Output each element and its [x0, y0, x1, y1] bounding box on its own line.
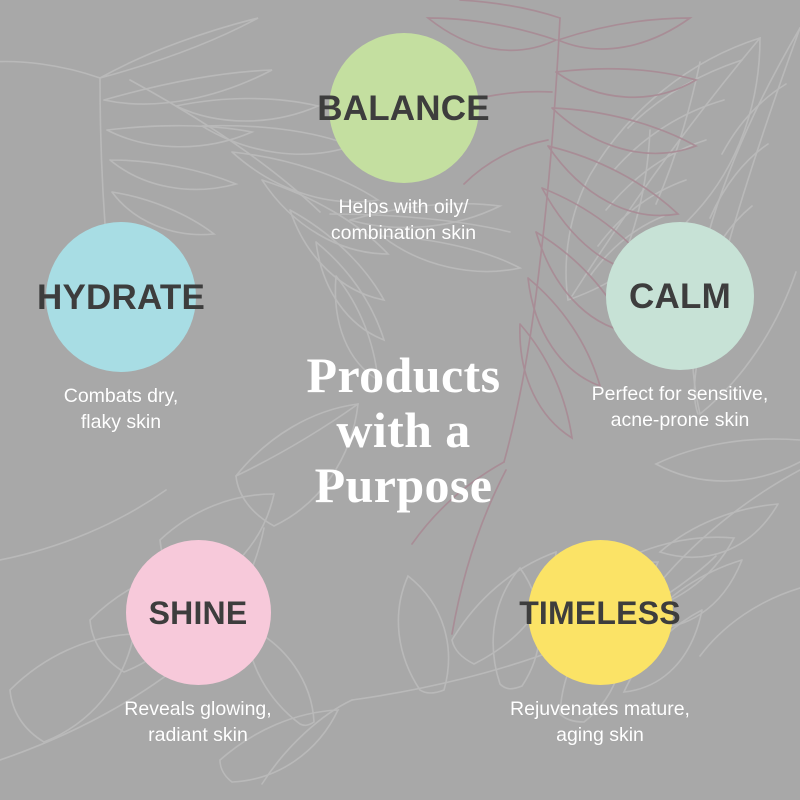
- bubble-label-balance: BALANCE: [317, 91, 490, 126]
- bubble-label-calm: CALM: [629, 279, 731, 314]
- node-calm[interactable]: CALM Perfect for sensitive, acne-prone s…: [562, 222, 798, 434]
- caption-calm: Perfect for sensitive, acne-prone skin: [592, 382, 769, 434]
- caption-shine: Reveals glowing, radiant skin: [124, 697, 271, 749]
- bubble-label-timeless: TIMELESS: [519, 597, 681, 629]
- caption-balance: Helps with oily/ combination skin: [331, 195, 476, 247]
- bubble-balance[interactable]: BALANCE: [329, 33, 479, 183]
- node-hydrate[interactable]: HYDRATE Combats dry, flaky skin: [3, 222, 239, 436]
- node-timeless[interactable]: TIMELESS Rejuvenates mature, aging skin: [480, 540, 720, 749]
- bubble-hydrate[interactable]: HYDRATE: [46, 222, 196, 372]
- node-balance[interactable]: BALANCE Helps with oily/ combination ski…: [265, 33, 542, 247]
- node-shine[interactable]: SHINE Reveals glowing, radiant skin: [78, 540, 318, 749]
- center-node: Products with a Purpose: [260, 287, 547, 574]
- center-bubble: Products with a Purpose: [260, 287, 547, 574]
- bubble-label-hydrate: HYDRATE: [37, 280, 205, 315]
- center-title: Products with a Purpose: [307, 348, 501, 513]
- bubble-calm[interactable]: CALM: [606, 222, 754, 370]
- bubble-shine[interactable]: SHINE: [126, 540, 271, 685]
- infographic-canvas: Products with a Purpose BALANCE Helps wi…: [0, 0, 800, 800]
- bubble-label-shine: SHINE: [149, 597, 248, 629]
- caption-hydrate: Combats dry, flaky skin: [64, 384, 179, 436]
- bubble-timeless[interactable]: TIMELESS: [528, 540, 673, 685]
- caption-timeless: Rejuvenates mature, aging skin: [510, 697, 690, 749]
